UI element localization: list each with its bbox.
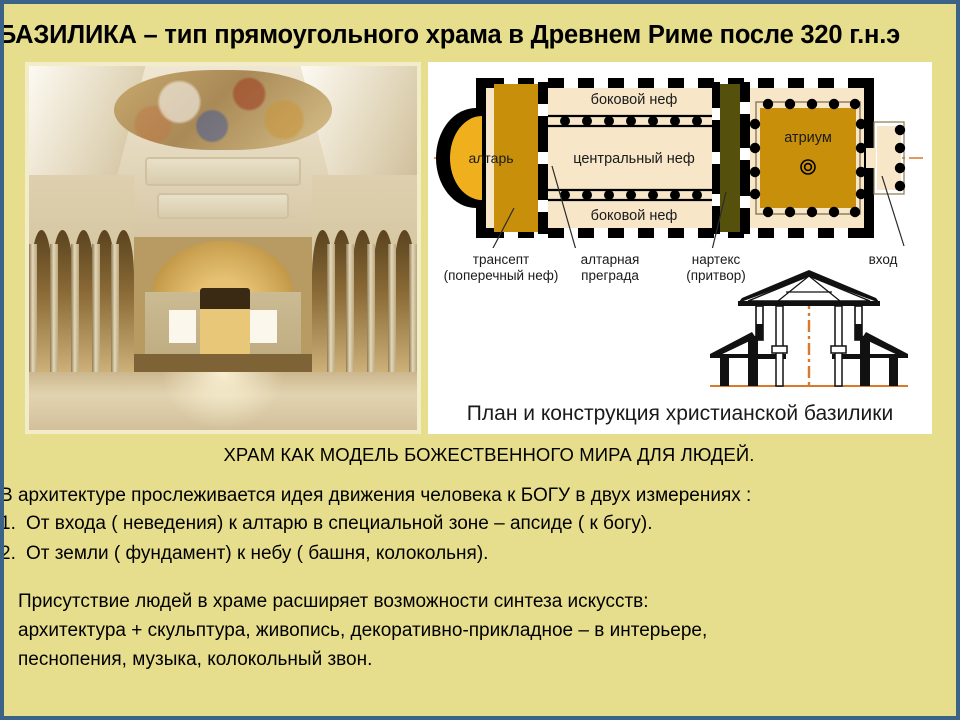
body-lead: В архитектуре прослеживается идея движен… bbox=[0, 482, 960, 509]
body-text-block: ХРАМ КАК МОДЕЛЬ БОЖЕСТВЕННОГО МИРА ДЛЯ Л… bbox=[4, 444, 960, 674]
photo-ceiling-fresco bbox=[114, 70, 331, 150]
photo-coffer-lower bbox=[157, 193, 289, 218]
photo-floor-highlight bbox=[161, 372, 285, 430]
plan-label-atrium: атриум bbox=[784, 130, 832, 146]
callout-transept: трансепт (поперечный неф) bbox=[432, 252, 570, 283]
plan-atrium-fill bbox=[760, 108, 856, 208]
callout-altar-screen: алтарная преграда bbox=[554, 252, 666, 283]
list-marker: 2. bbox=[0, 539, 26, 569]
list-item: 2. От земли ( фундамент) к небу ( башня,… bbox=[0, 539, 960, 569]
photo-choir-bench bbox=[134, 354, 312, 372]
list-text: От входа ( неведения) к алтарю в специал… bbox=[26, 509, 653, 539]
basilica-plan-diagram: боковой неф центральный неф боковой неф … bbox=[428, 62, 932, 434]
photo-colonnade-left bbox=[29, 204, 134, 386]
closing-line-2: архитектура + скульптура, живопись, деко… bbox=[18, 616, 960, 645]
photo-coffer-upper bbox=[145, 157, 300, 186]
photo-window-left bbox=[169, 310, 196, 343]
list-item: 1. От входа ( неведения) к алтарю в спец… bbox=[0, 509, 960, 539]
closing-line-3: песнопения, музыка, колокольный звон. bbox=[18, 645, 960, 674]
body-numbered-list: 1. От входа ( неведения) к алтарю в спец… bbox=[0, 509, 960, 569]
plan-label-side-nave-top: боковой неф bbox=[591, 92, 678, 108]
body-headline: ХРАМ КАК МОДЕЛЬ БОЖЕСТВЕННОГО МИРА ДЛЯ Л… bbox=[4, 444, 960, 466]
plan-label-side-nave-bottom: боковой неф bbox=[591, 208, 678, 224]
slide-canvas: БАЗИЛИКА – тип прямоугольного храма в Др… bbox=[0, 0, 960, 720]
closing-line-1: Присутствие людей в храме расширяет возм… bbox=[18, 587, 960, 616]
plan-drawing: боковой неф центральный неф боковой неф … bbox=[434, 68, 926, 248]
plan-label-central-nave: центральный неф bbox=[573, 151, 695, 167]
page-title: БАЗИЛИКА – тип прямоугольного храма в Др… bbox=[0, 18, 960, 52]
list-marker: 1. bbox=[0, 509, 26, 539]
basilica-interior-photo-frame bbox=[25, 62, 421, 434]
body-closing-block: Присутствие людей в храме расширяет возм… bbox=[18, 587, 960, 674]
photo-colonnade-right bbox=[312, 204, 417, 386]
plan-label-apse: алтарь bbox=[468, 150, 513, 166]
section-drawing bbox=[690, 262, 928, 394]
basilica-interior-photograph bbox=[29, 66, 417, 430]
photo-window-right bbox=[250, 310, 277, 343]
list-text: От земли ( фундамент) к небу ( башня, ко… bbox=[26, 539, 488, 569]
diagram-caption: План и конструкция христианской базилики bbox=[428, 402, 932, 426]
